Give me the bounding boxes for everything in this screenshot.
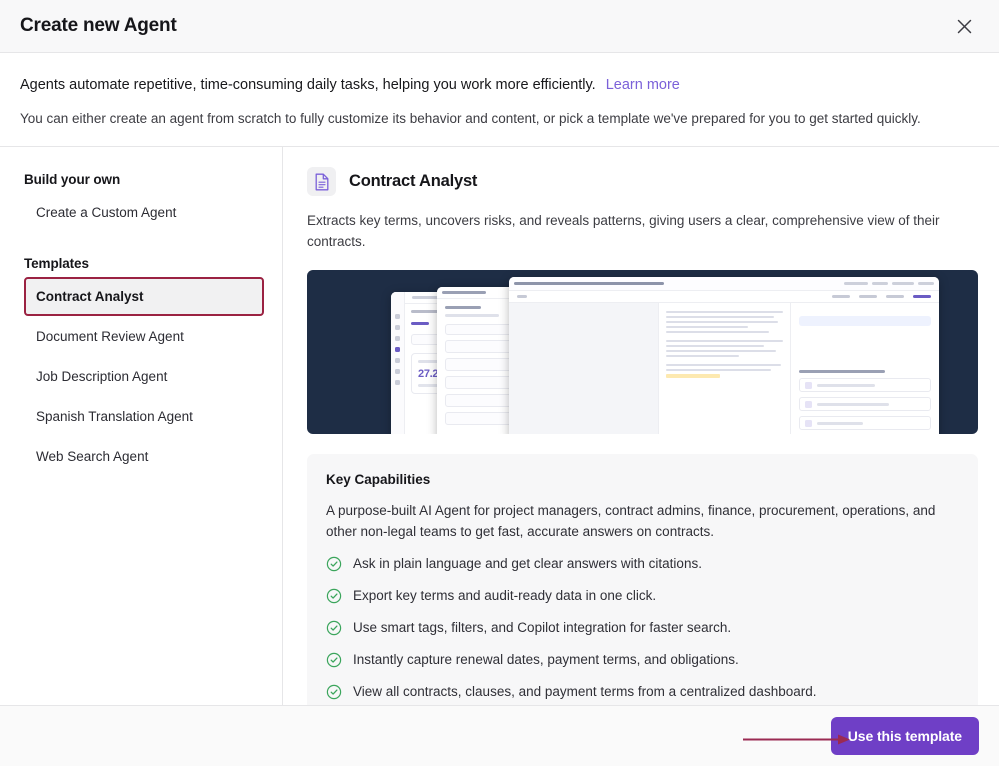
preview-rail-dot (395, 380, 400, 385)
preview-rail-dot (395, 325, 400, 330)
preview-tab-comments (859, 295, 877, 298)
preview-assistant-panel (791, 303, 939, 434)
capability-item: Ask in plain language and get clear answ… (326, 554, 958, 577)
capability-item: Instantly capture renewal dates, payment… (326, 650, 958, 673)
preview-rail-dot (395, 336, 400, 341)
intro-section: Agents automate repetitive, time-consumi… (0, 53, 999, 147)
agent-header: Contract Analyst (307, 167, 977, 196)
preview-document-page (659, 303, 791, 434)
check-circle-icon (326, 620, 342, 641)
preview-share (872, 282, 888, 285)
sidebar-item-create-custom-agent[interactable]: Create a Custom Agent (24, 193, 264, 232)
preview-file-header (509, 277, 939, 291)
key-capabilities-card: Key Capabilities A purpose-built AI Agen… (307, 454, 978, 705)
preview-export (918, 282, 934, 285)
agent-description: Extracts key terms, uncovers risks, and … (307, 210, 977, 252)
preview-nav-rail (391, 292, 405, 434)
key-capabilities-description: A purpose-built AI Agent for project man… (326, 500, 958, 542)
capability-text: Instantly capture renewal dates, payment… (353, 650, 739, 669)
close-button[interactable] (949, 11, 979, 41)
intro-primary-line: Agents automate repetitive, time-consumi… (20, 75, 979, 95)
preview-tab-ask (832, 295, 850, 298)
preview-download (892, 282, 914, 285)
template-sidebar: Build your own Create a Custom Agent Tem… (0, 147, 283, 705)
capability-text: Export key terms and audit-ready data in… (353, 586, 656, 605)
sidebar-item-spanish-translation-agent[interactable]: Spanish Translation Agent (24, 397, 264, 436)
modal-titlebar: Create new Agent (0, 0, 999, 53)
learn-more-link[interactable]: Learn more (606, 77, 680, 93)
preview-tab-active (411, 322, 429, 325)
sidebar-item-document-review-agent[interactable]: Document Review Agent (24, 317, 264, 356)
agent-title: Contract Analyst (349, 172, 477, 191)
preview-rail-dot (395, 369, 400, 374)
use-this-template-button[interactable]: Use this template (831, 717, 979, 755)
sidebar-item-web-search-agent[interactable]: Web Search Agent (24, 437, 264, 476)
capability-item: Use smart tags, filters, and Copilot int… (326, 618, 958, 641)
check-circle-icon (326, 556, 342, 577)
key-capabilities-title: Key Capabilities (326, 472, 958, 487)
preview-tab-workflows (886, 295, 904, 298)
preview-assistant-action (799, 416, 931, 430)
intro-secondary-text: You can either create an agent from scra… (20, 109, 979, 128)
page-title: Create new Agent (20, 15, 949, 37)
preview-rail-dot (395, 358, 400, 363)
modal-footer: Use this template (0, 705, 999, 766)
preview-open-with (844, 282, 868, 285)
create-agent-modal: Create new Agent Agents automate repetit… (0, 0, 999, 766)
sidebar-item-job-description-agent[interactable]: Job Description Agent (24, 357, 264, 396)
preview-zoom-control (517, 295, 527, 298)
preview-viewer-toolbar (509, 291, 939, 303)
template-preview-image: 27.2k (307, 270, 978, 434)
check-circle-icon (326, 652, 342, 673)
preview-brand-chip (412, 296, 438, 299)
preview-smarttags-title (442, 291, 486, 294)
preview-assistant-action (799, 397, 931, 411)
close-icon (957, 19, 972, 34)
preview-file-name (514, 282, 664, 286)
modal-body: Build your own Create a Custom Agent Tem… (0, 147, 999, 705)
capability-item: Export key terms and audit-ready data in… (326, 586, 958, 609)
intro-primary-text: Agents automate repetitive, time-consumi… (20, 77, 596, 93)
preview-assistant-greeting (799, 370, 885, 373)
preview-contract-type-value (445, 314, 499, 317)
preview-rail-dot-active (395, 347, 400, 352)
preview-tab-details (913, 295, 931, 298)
build-your-own-heading: Build your own (24, 172, 264, 187)
capability-text: View all contracts, clauses, and payment… (353, 682, 816, 701)
capability-text: Use smart tags, filters, and Copilot int… (353, 618, 731, 637)
preview-tagged-notice (799, 316, 931, 326)
template-detail-panel: Contract Analyst Extracts key terms, unc… (283, 147, 999, 705)
preview-assistant-action (799, 378, 931, 392)
preview-rail-dot (395, 314, 400, 319)
capability-item: View all contracts, clauses, and payment… (326, 682, 958, 705)
check-circle-icon (326, 588, 342, 609)
capability-text: Ask in plain language and get clear answ… (353, 554, 702, 573)
check-circle-icon (326, 684, 342, 705)
preview-contract-type-label (445, 306, 481, 309)
templates-heading: Templates (24, 256, 264, 271)
preview-window-document-viewer (509, 277, 939, 434)
sidebar-item-contract-analyst[interactable]: Contract Analyst (24, 277, 264, 316)
document-icon (307, 167, 336, 196)
